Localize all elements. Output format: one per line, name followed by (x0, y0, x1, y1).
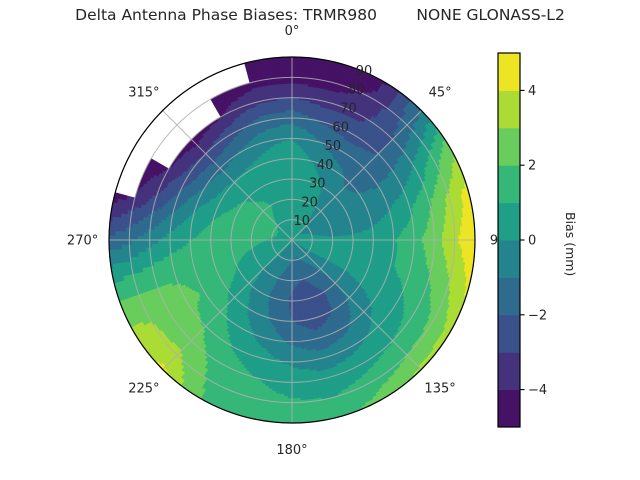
colorbar-tick-label-2: 2 (528, 159, 536, 174)
colorbar-band (498, 352, 520, 390)
colorbar-band (498, 240, 520, 278)
r-label-70: 70 (340, 102, 357, 117)
colorbar-tick-label-4: 4 (528, 84, 536, 99)
r-label-10: 10 (294, 214, 311, 229)
colorbar: 420−2−4 (498, 53, 547, 428)
colorbar-band (498, 53, 520, 91)
page-title: Delta Antenna Phase Biases: TRMR980 NONE… (0, 6, 640, 24)
theta-label-315: 315° (128, 85, 159, 100)
r-label-30: 30 (309, 177, 326, 192)
r-label-80: 80 (348, 83, 365, 98)
colorbar-band (498, 315, 520, 353)
theta-label-270: 270° (67, 234, 98, 249)
polar-contour-plot: 0°45°90°135°180°225°270°315° 10203040506… (0, 0, 640, 480)
figure-canvas: Delta Antenna Phase Biases: TRMR980 NONE… (0, 0, 640, 480)
r-label-20: 20 (301, 195, 318, 210)
colorbar-tick-label--2: −2 (528, 308, 547, 323)
theta-label-45: 45° (429, 85, 452, 100)
r-label-60: 60 (332, 120, 349, 135)
colorbar-tick-label--4: −4 (528, 383, 547, 398)
colorbar-axis-label: Bias (mm) (563, 212, 578, 276)
theta-label-135: 135° (424, 382, 455, 397)
r-label-50: 50 (325, 139, 342, 154)
colorbar-band (498, 203, 520, 241)
colorbar-tick-label-0: 0 (528, 234, 536, 249)
colorbar-band (498, 90, 520, 128)
theta-label-180: 180° (276, 443, 307, 458)
colorbar-band (498, 277, 520, 315)
colorbar-band (498, 128, 520, 166)
theta-label-225: 225° (128, 382, 159, 397)
polar-grid-layer (109, 57, 475, 423)
r-label-40: 40 (317, 158, 334, 173)
colorbar-band (498, 390, 520, 428)
colorbar-band (498, 165, 520, 203)
r-label-90: 90 (356, 64, 373, 79)
theta-label-0: 0° (285, 24, 300, 39)
